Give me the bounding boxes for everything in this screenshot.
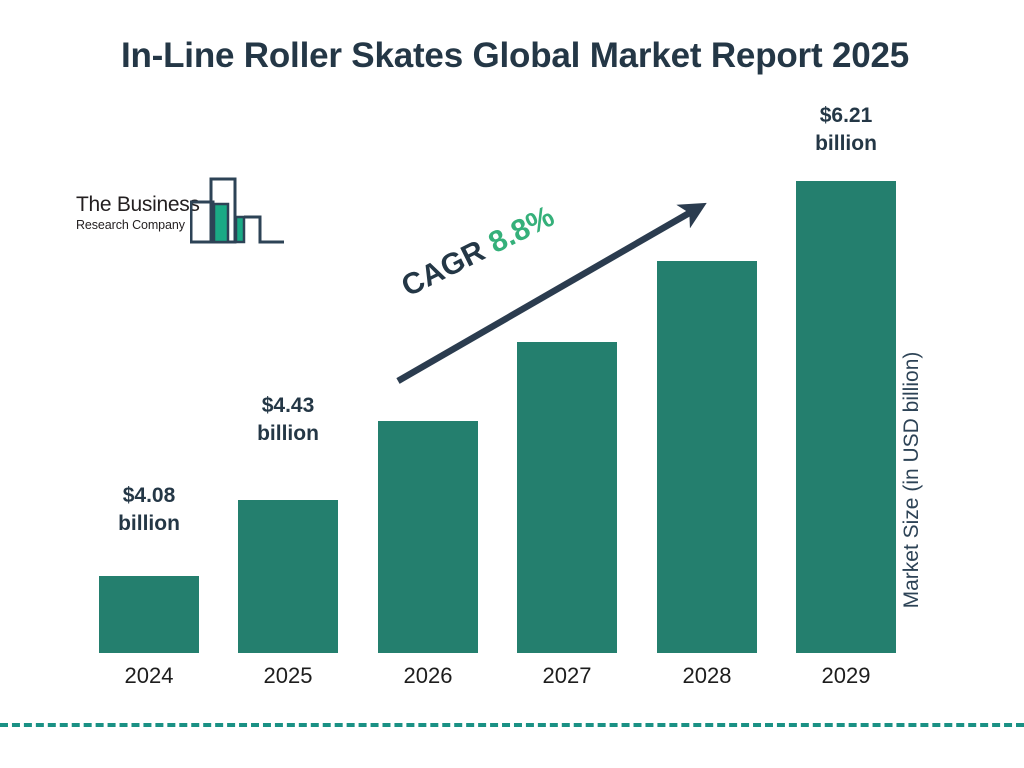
cagr-label: CAGR [396,234,490,303]
bar-2026 [378,421,478,653]
bar-value-2029: $6.21 billion [787,102,905,158]
bar-value-2025-unit: billion [229,420,347,448]
x-tick-2024: 2024 [99,663,199,689]
bar-value-2024: $4.08 billion [90,482,208,538]
bar-2027 [517,342,617,653]
bar-value-2025-amount: $4.43 [229,392,347,420]
x-tick-2025: 2025 [238,663,338,689]
x-tick-2028: 2028 [657,663,757,689]
x-tick-2026: 2026 [378,663,478,689]
cagr-annotation: CAGR8.8% [397,202,559,303]
bar-value-2025: $4.43 billion [229,392,347,448]
bar-value-2024-unit: billion [90,510,208,538]
bar-chart-plot: $4.08 billion $4.43 billion $6.21 billio… [0,0,1024,768]
bar-2028 [657,261,757,653]
bar-value-2029-amount: $6.21 [787,102,905,130]
chart-page: In-Line Roller Skates Global Market Repo… [0,0,1024,768]
bar-value-2029-unit: billion [787,130,905,158]
x-tick-2027: 2027 [517,663,617,689]
bar-2025 [238,500,338,653]
x-tick-2029: 2029 [796,663,896,689]
footer-divider [0,723,1024,727]
y-axis-title: Market Size (in USD billion) [900,0,934,300]
bar-value-2024-amount: $4.08 [90,482,208,510]
bar-2024 [99,576,199,653]
cagr-value: 8.8% [484,200,560,260]
bar-2029 [796,181,896,653]
y-axis-title-text: Market Size (in USD billion) [900,300,924,660]
